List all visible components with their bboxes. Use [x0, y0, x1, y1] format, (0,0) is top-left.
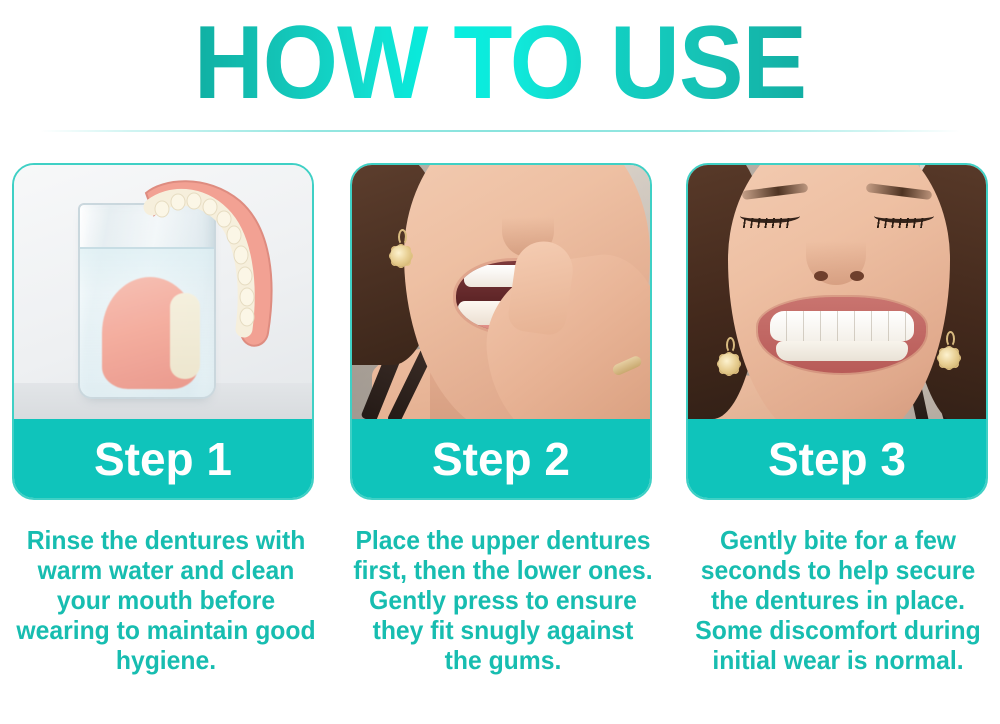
step-2-badge-label: Step 2	[432, 435, 570, 483]
step-2-photo	[352, 165, 650, 423]
lower-teeth	[776, 341, 908, 361]
sun-earring-icon	[388, 243, 414, 269]
step-3-photo	[688, 165, 986, 423]
finger-ring	[611, 355, 643, 377]
nostril-right	[850, 271, 864, 281]
woman-inserting-denture-illustration	[352, 165, 650, 423]
step-card-3[interactable]: Step 3	[686, 163, 988, 500]
step-3-caption: Gently bite for a few seconds to help se…	[686, 525, 990, 675]
step-3-badge-label: Step 3	[768, 435, 906, 483]
step-card-2[interactable]: Step 2	[350, 163, 652, 500]
eyelash-left	[739, 218, 800, 228]
denture-arch	[136, 177, 306, 355]
earring-hook	[398, 229, 407, 245]
woman-smiling-illustration	[688, 165, 986, 423]
denture-in-glass-illustration	[14, 165, 312, 423]
closed-eye-right	[874, 209, 934, 223]
step-1-caption: Rinse the dentures with warm water and c…	[14, 525, 318, 675]
step-card-1[interactable]: Step 1	[12, 163, 314, 500]
tooth-separations	[770, 311, 914, 341]
earring-sun-charm	[390, 245, 412, 267]
step-1-photo	[14, 165, 312, 423]
step-1-banner: Step 1	[14, 419, 312, 498]
earring-hook	[946, 331, 955, 347]
step-1-badge-label: Step 1	[94, 435, 232, 483]
title-divider	[40, 130, 960, 132]
step-2-banner: Step 2	[352, 419, 650, 498]
sun-earring-right-icon	[936, 345, 962, 371]
page-title: HOW TO USE	[35, 8, 965, 118]
step-3-banner: Step 3	[688, 419, 986, 498]
earring-sun-charm	[718, 353, 740, 375]
title-block: HOW TO USE	[0, 0, 1000, 136]
captions-row: Rinse the dentures with warm water and c…	[0, 525, 1000, 724]
nostril-left	[814, 271, 828, 281]
step-2-caption: Place the upper dentures first, then the…	[352, 525, 654, 675]
sun-earring-left-icon	[716, 351, 742, 377]
earring-sun-charm	[938, 347, 960, 369]
eyelash-right	[873, 218, 934, 228]
step-cards-row: Step 1	[0, 163, 1000, 501]
closed-eye-left	[740, 209, 800, 223]
earring-hook	[726, 337, 735, 353]
face	[728, 165, 950, 423]
how-to-use-infographic: HOW TO USE	[0, 0, 1000, 724]
